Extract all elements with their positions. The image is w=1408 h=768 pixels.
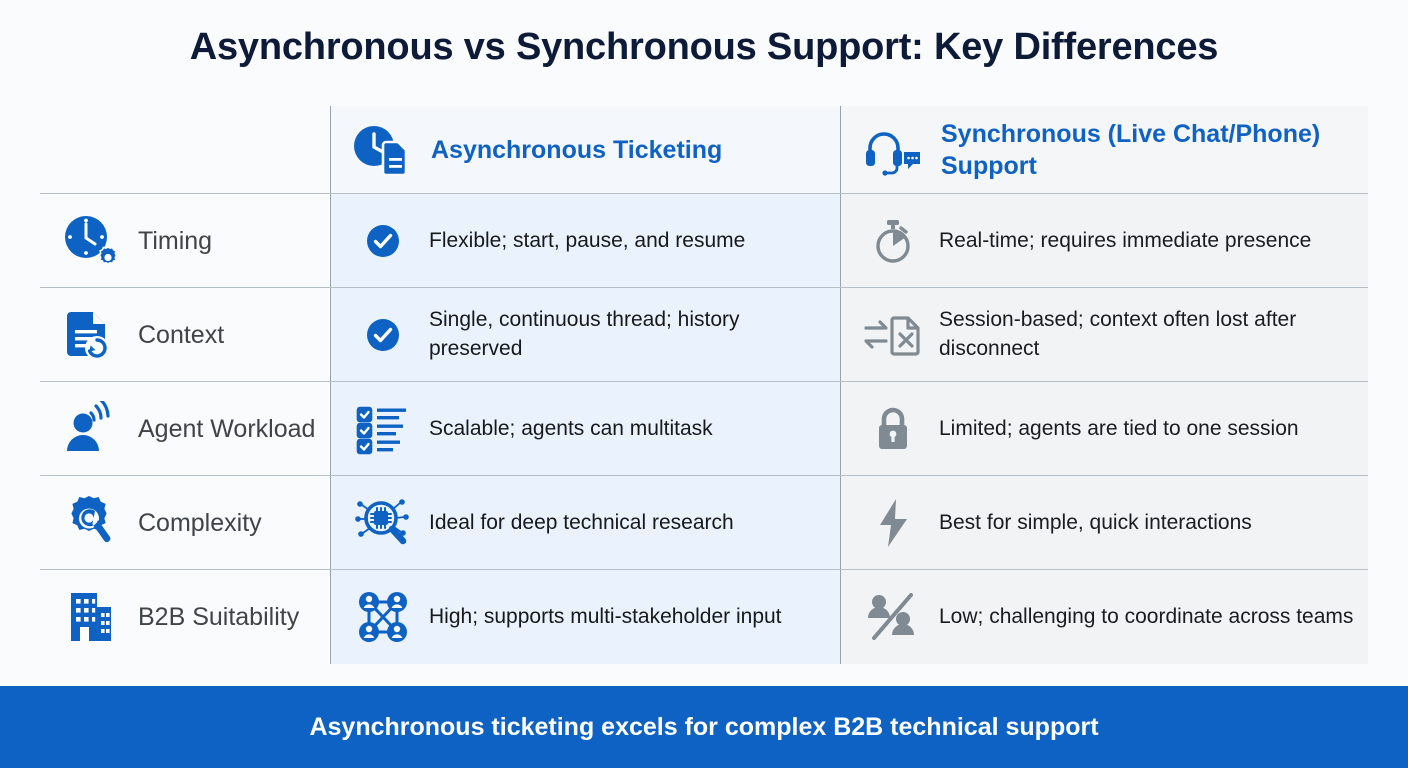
async-value: Ideal for deep technical research [429,509,734,538]
stakeholder-network-icon [345,589,421,645]
feature-label: Context [138,320,224,350]
table-row: Complexity [40,476,1368,570]
footer-banner: Asynchronous ticketing excels for comple… [0,686,1408,768]
footer-text: Asynchronous ticketing excels for comple… [309,713,1098,742]
lightning-bolt-icon [855,497,931,549]
gear-wrench-icon [54,494,128,552]
headset-chat-icon [855,124,927,176]
clock-gear-icon [54,213,128,269]
feature-label: B2B Suitability [138,602,299,632]
sync-value: Session-based; context often lost after … [939,306,1354,364]
async-value: Scalable; agents can multitask [429,415,713,444]
transfer-document-x-icon [855,312,931,358]
async-cell-complexity: Ideal for deep technical research [330,476,840,570]
feature-cell-complexity: Complexity [40,476,330,570]
table-header-row: Asynchronous Ticketing [40,106,1368,194]
sync-value: Best for simple, quick interactions [939,509,1252,538]
document-history-icon [54,306,128,364]
header-async-label: Asynchronous Ticketing [431,134,722,166]
async-cell-timing: Flexible; start, pause, and resume [330,194,840,288]
chip-magnifier-icon [345,495,421,551]
sync-value: Limited; agents are tied to one session [939,415,1299,444]
header-feature-cell [40,106,330,194]
lock-icon [855,404,931,454]
sync-cell-b2b-suitability: Low; challenging to coordinate across te… [840,570,1368,664]
infographic-page: Asynchronous vs Synchronous Support: Key… [0,0,1408,768]
feature-label: Agent Workload [138,414,315,444]
sync-cell-context: Session-based; context often lost after … [840,288,1368,382]
office-building-icon [54,589,128,645]
sync-cell-timing: Real-time; requires immediate presence [840,194,1368,288]
check-circle-icon [345,224,421,258]
async-value: High; supports multi-stakeholder input [429,603,782,632]
table-row: Timing Flexible; start, pause, and resum… [40,194,1368,288]
table-row: B2B Suitability [40,570,1368,664]
people-divided-icon [855,591,931,643]
table-row: Agent Workload [40,382,1368,476]
sync-cell-complexity: Best for simple, quick interactions [840,476,1368,570]
table-row: Context Single, continuous thread; histo… [40,288,1368,382]
async-cell-context: Single, continuous thread; history prese… [330,288,840,382]
checklist-icon [345,403,421,455]
header-sync-cell: Synchronous (Live Chat/Phone) Support [840,106,1368,194]
header-sync-label: Synchronous (Live Chat/Phone) Support [941,118,1354,182]
sync-value: Low; challenging to coordinate across te… [939,603,1353,632]
async-cell-b2b-suitability: High; supports multi-stakeholder input [330,570,840,664]
comparison-table: Asynchronous Ticketing [40,106,1368,664]
agent-signal-icon [54,401,128,457]
feature-cell-timing: Timing [40,194,330,288]
feature-cell-b2b-suitability: B2B Suitability [40,570,330,664]
feature-cell-agent-workload: Agent Workload [40,382,330,476]
feature-label: Timing [138,226,212,256]
sync-value: Real-time; requires immediate presence [939,227,1311,256]
page-title: Asynchronous vs Synchronous Support: Key… [0,26,1408,69]
header-async-cell: Asynchronous Ticketing [330,106,840,194]
async-value: Flexible; start, pause, and resume [429,227,745,256]
async-cell-agent-workload: Scalable; agents can multitask [330,382,840,476]
stopwatch-icon [855,217,931,265]
async-value: Single, continuous thread; history prese… [429,306,826,364]
feature-cell-context: Context [40,288,330,382]
clock-document-icon [345,124,417,176]
sync-cell-agent-workload: Limited; agents are tied to one session [840,382,1368,476]
feature-label: Complexity [138,508,262,538]
check-circle-icon [345,318,421,352]
